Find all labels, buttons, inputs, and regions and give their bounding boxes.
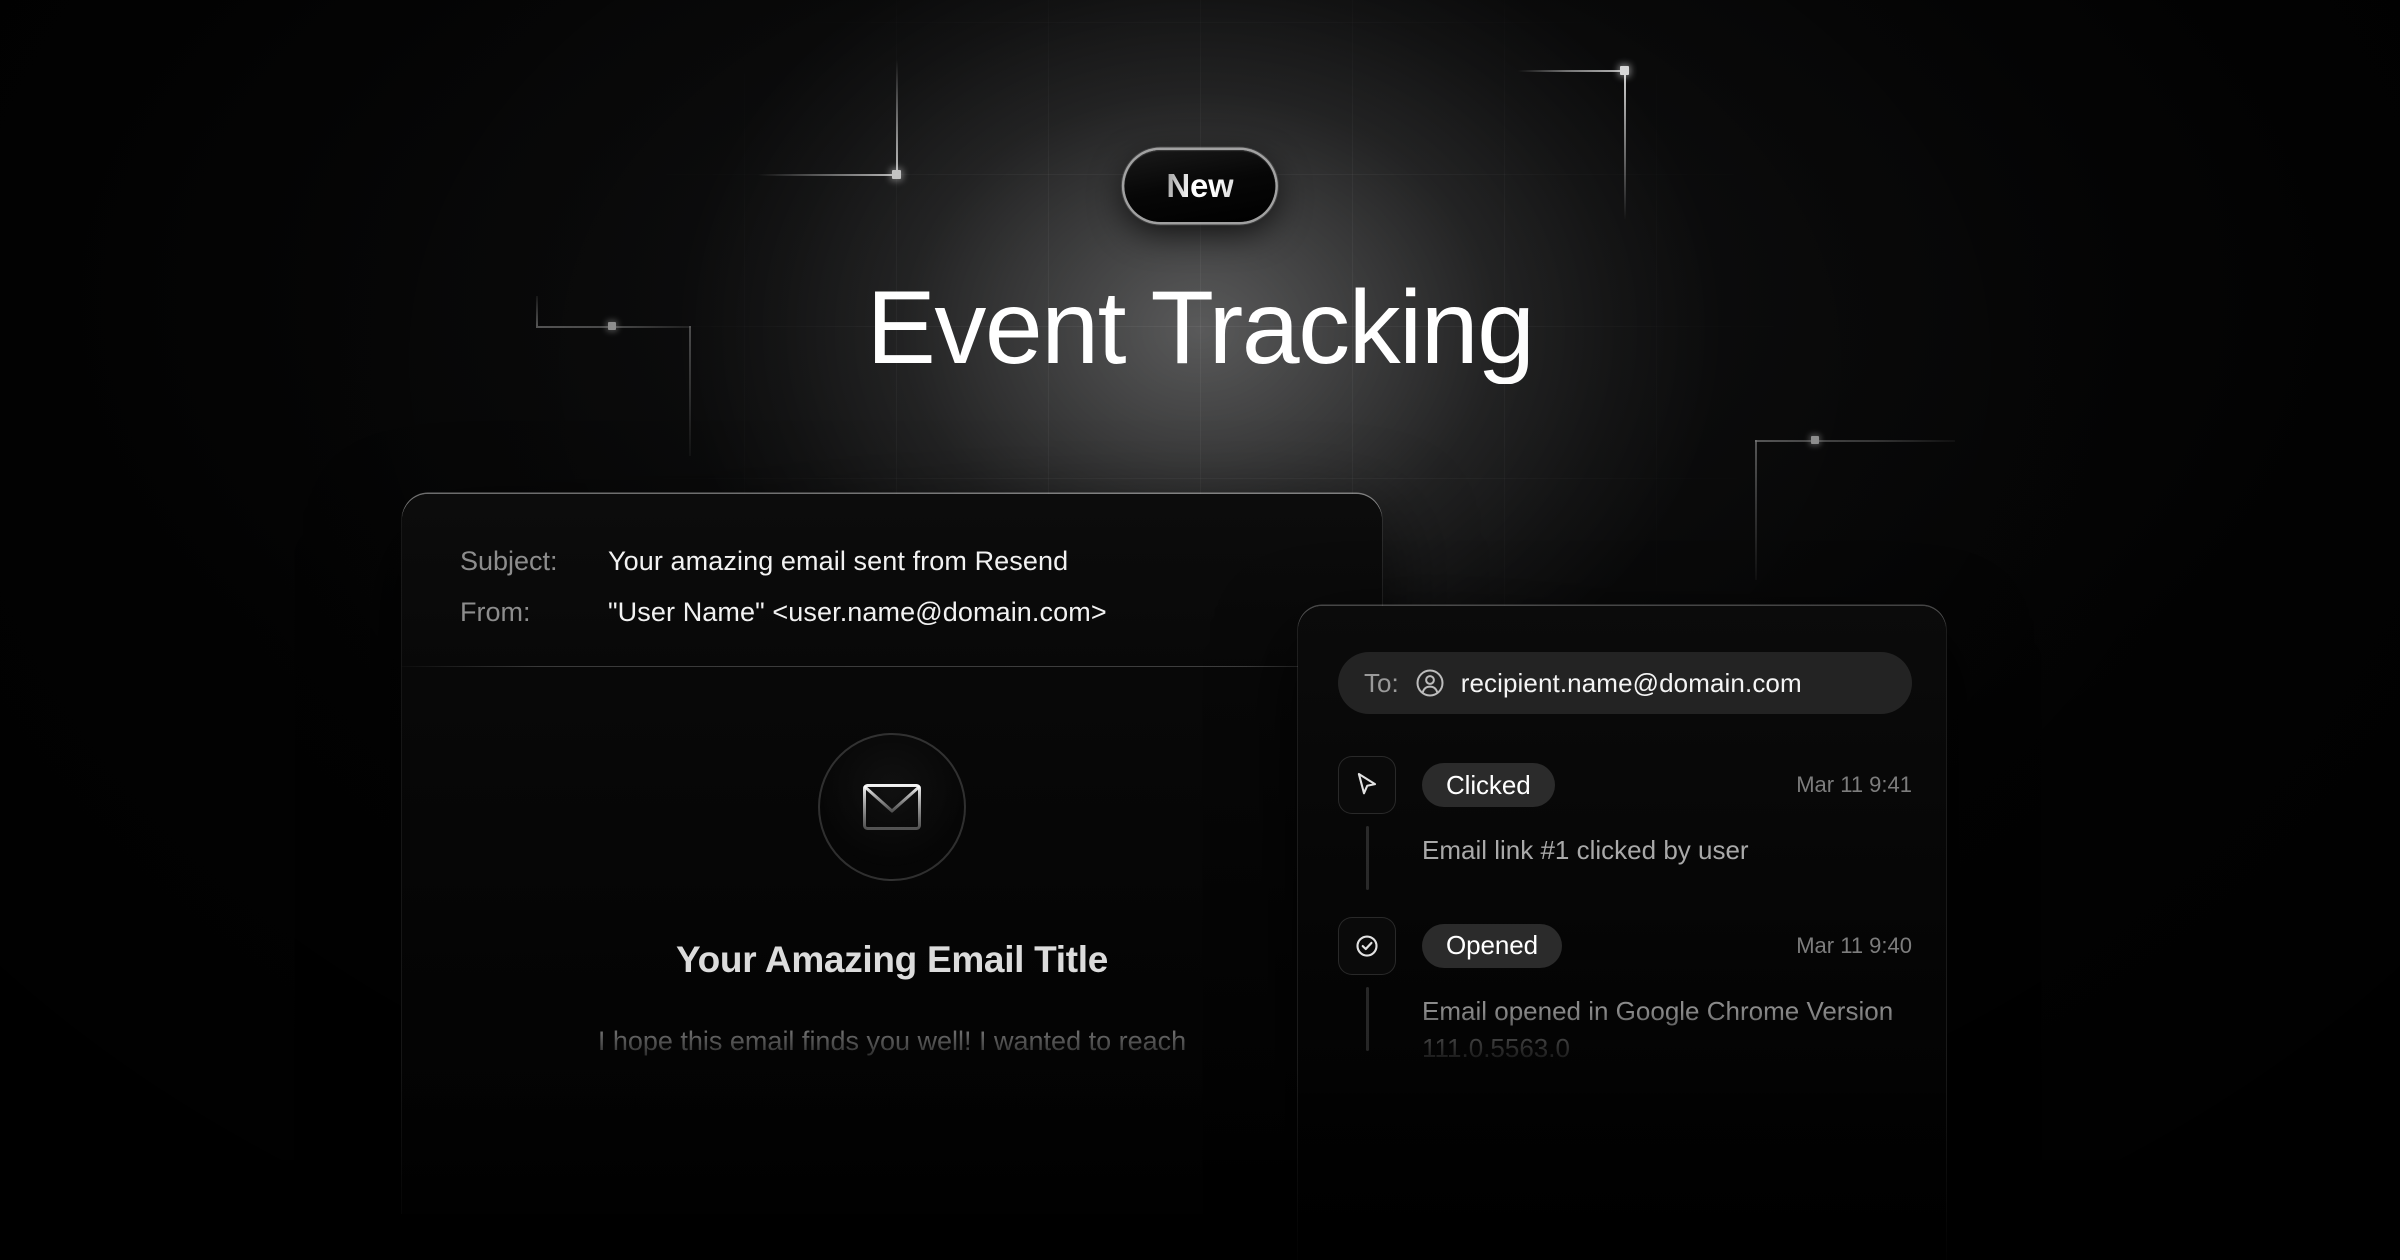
event-tracking-panel: To: recipient.name@domain.com (1298, 606, 1946, 1260)
timeline-item-clicked[interactable]: Clicked Mar 11 9:41 Email link #1 clicke… (1338, 756, 1946, 869)
cursor-arrow-icon (1338, 756, 1396, 814)
email-body-title: Your Amazing Email Title (402, 939, 1382, 981)
email-subject-value: Your amazing email sent from Resend (608, 546, 1068, 577)
status-badge: Clicked (1422, 763, 1555, 807)
timeline-connector (1366, 987, 1369, 1051)
envelope-icon-ring (818, 733, 966, 881)
email-header: Subject: Your amazing email sent from Re… (402, 494, 1382, 667)
page-title: Event Tracking (0, 272, 2400, 384)
timeline-connector (1366, 826, 1369, 890)
email-body-text: I hope this email finds you well! I want… (402, 1021, 1382, 1062)
email-body: Your Amazing Email Title I hope this ema… (402, 667, 1382, 1062)
new-badge: New (1124, 150, 1275, 222)
event-description: Email opened in Google Chrome Version 11… (1422, 993, 1946, 1067)
email-subject-label: Subject: (460, 546, 608, 577)
avatar-icon (1415, 668, 1445, 698)
new-badge-label: New (1166, 167, 1233, 205)
event-timeline: Clicked Mar 11 9:41 Email link #1 clicke… (1298, 756, 1946, 1067)
check-circle-icon (1338, 917, 1396, 975)
recipient-email: recipient.name@domain.com (1461, 668, 1802, 699)
event-timestamp: Mar 11 9:40 (1796, 933, 1912, 959)
email-subject-row: Subject: Your amazing email sent from Re… (402, 546, 1382, 577)
email-from-label: From: (460, 597, 608, 628)
email-preview-card: Subject: Your amazing email sent from Re… (402, 494, 1382, 1214)
recipient-pill[interactable]: To: recipient.name@domain.com (1338, 652, 1912, 714)
event-timestamp: Mar 11 9:41 (1796, 772, 1912, 798)
timeline-head: Opened Mar 11 9:40 (1422, 917, 1946, 975)
envelope-icon (863, 784, 921, 830)
status-badge: Opened (1422, 924, 1562, 968)
hero-section: New Event Tracking Subject: Your amazing… (0, 0, 2400, 1260)
email-from-row: From: "User Name" <user.name@domain.com> (402, 597, 1382, 628)
timeline-head: Clicked Mar 11 9:41 (1422, 756, 1946, 814)
recipient-label: To: (1364, 668, 1399, 699)
timeline-item-opened[interactable]: Opened Mar 11 9:40 Email opened in Googl… (1338, 917, 1946, 1067)
email-from-value: "User Name" <user.name@domain.com> (608, 597, 1107, 628)
event-description: Email link #1 clicked by user (1422, 832, 1946, 869)
